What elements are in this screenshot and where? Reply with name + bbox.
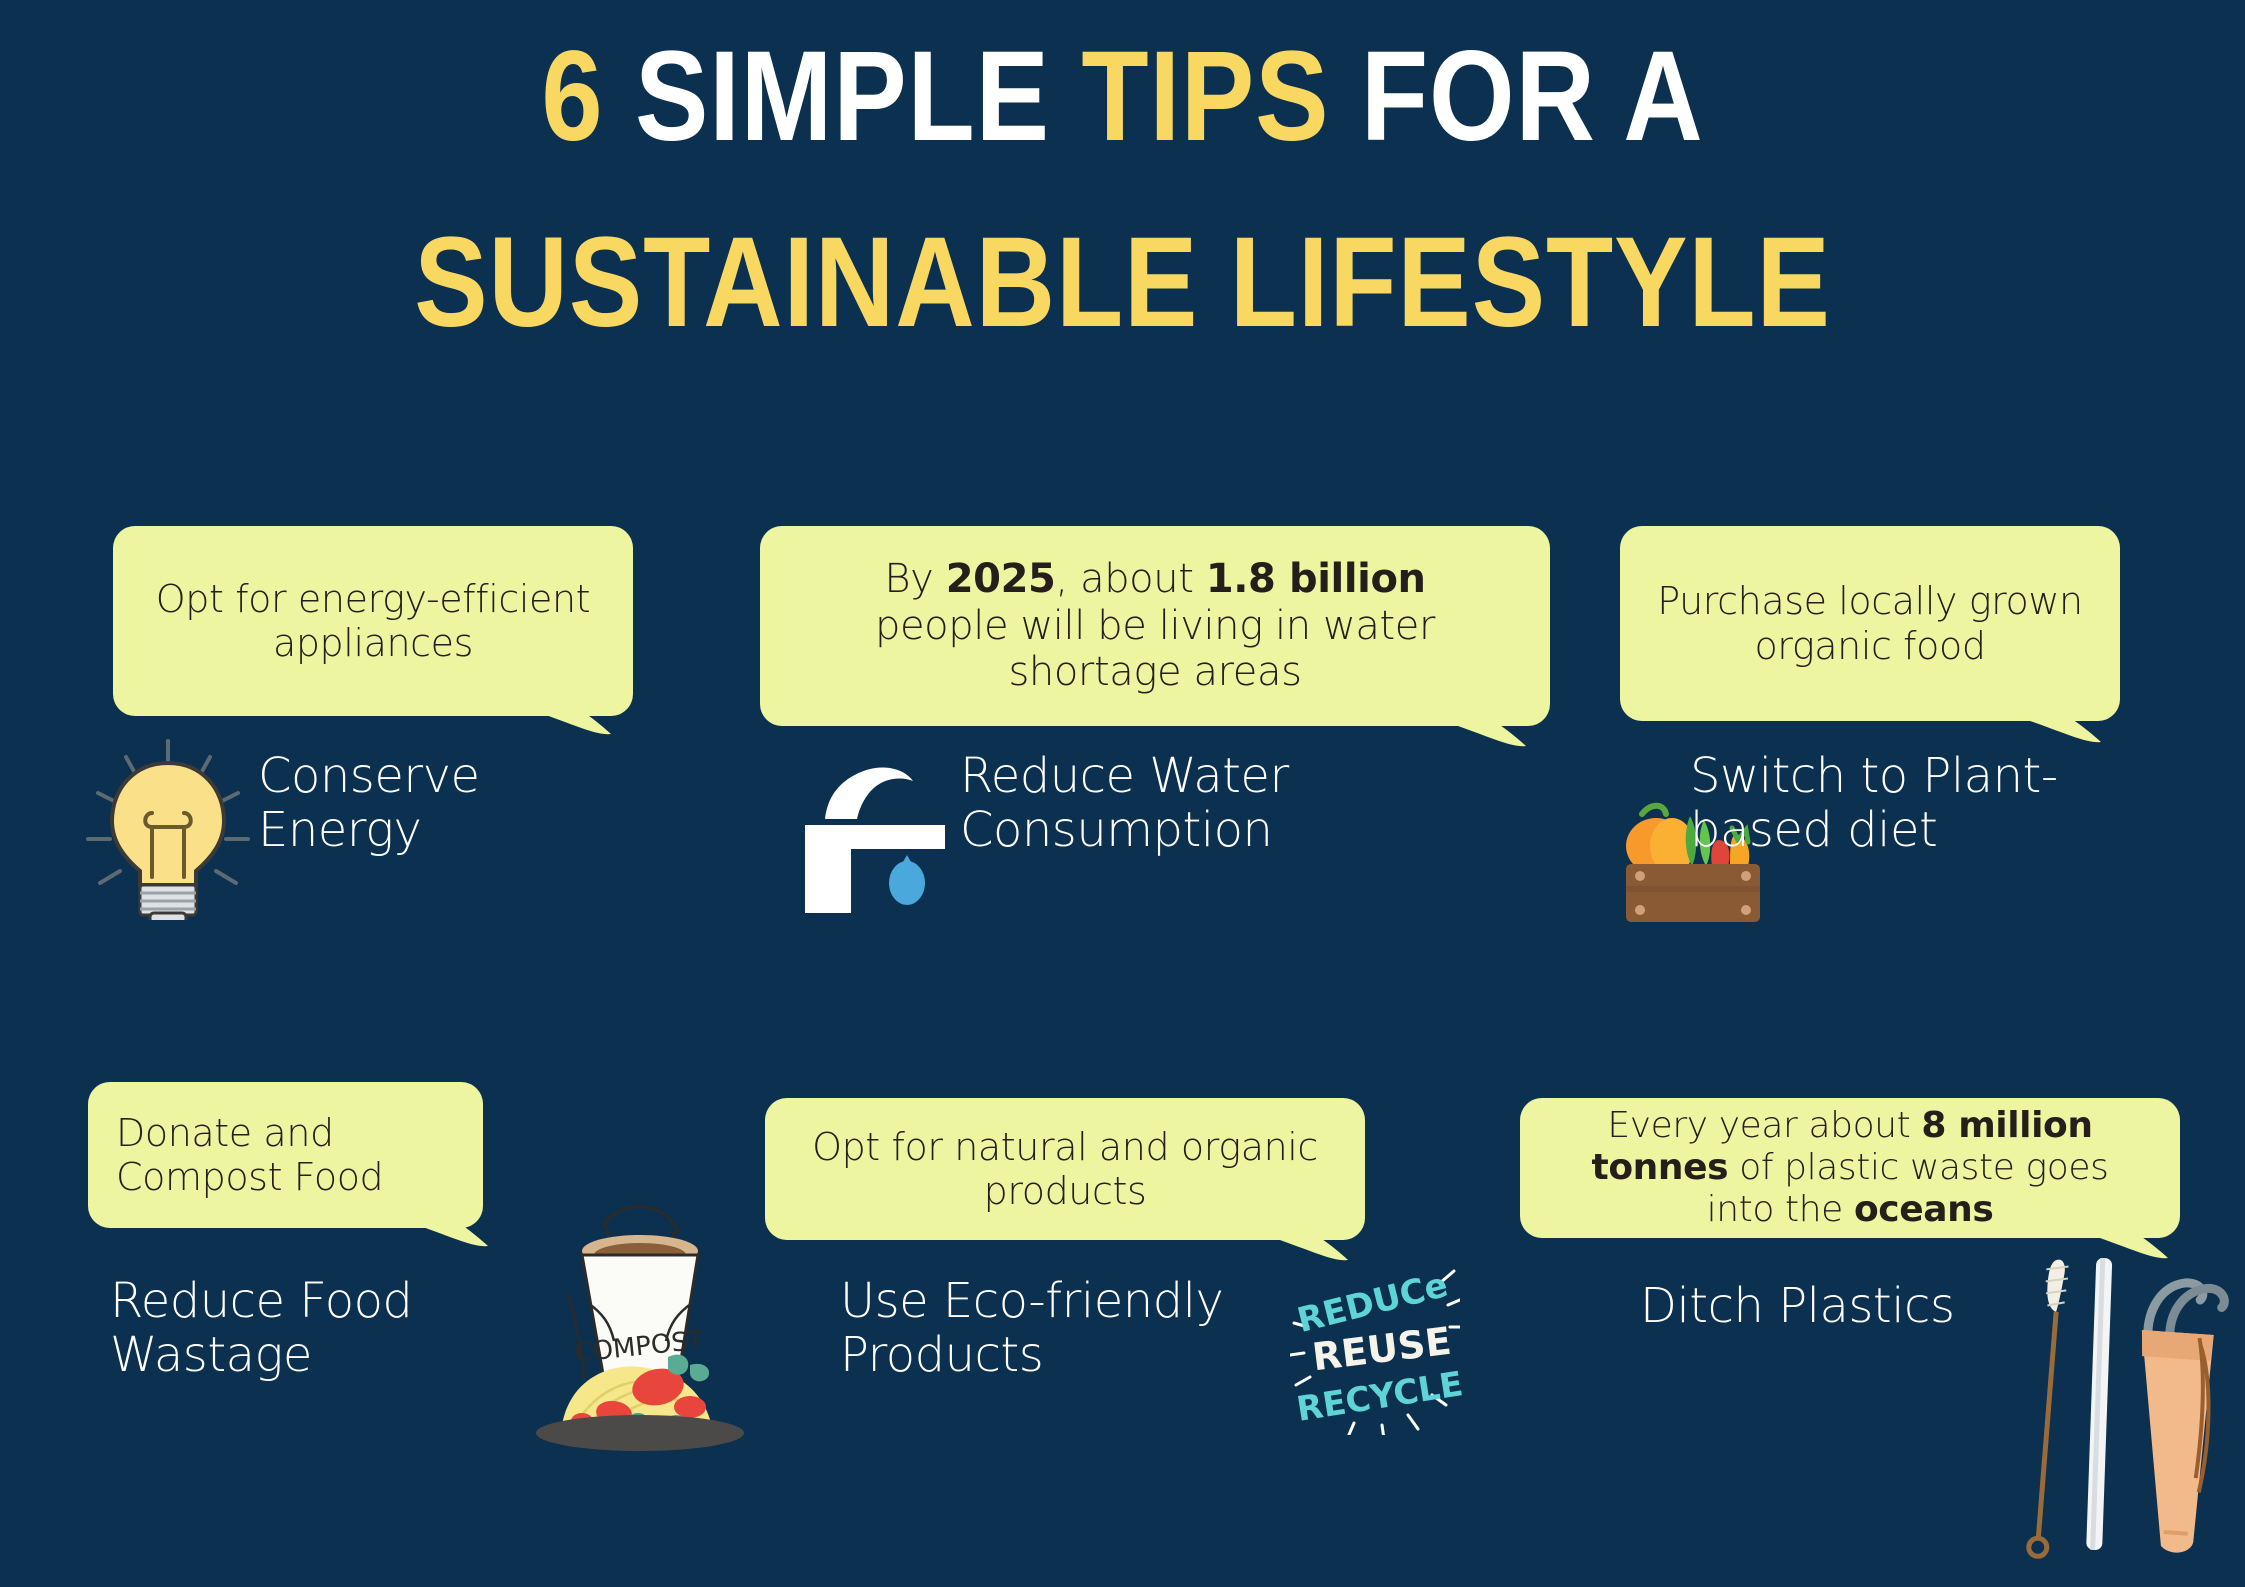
page-title: 6 SIMPLE TIPS FOR A SUSTAINABLE LIFESTYL… [0, 28, 2245, 352]
headline-reduce-food-wastage: Reduce Food Wastage [110, 1275, 510, 1383]
title-line-1: 6 SIMPLE TIPS FOR A [157, 28, 2088, 166]
compost-bin-icon: COMPOST [490, 1175, 780, 1465]
lightbulb-icon [78, 735, 258, 920]
bubble-plant-based-diet: Purchase locally grown organic food [1620, 526, 2120, 721]
bubble-text: Opt for natural and organic products [791, 1125, 1339, 1214]
bubble-text: By 2025, about 1.8 billionpeople will be… [875, 556, 1435, 696]
reduce-reuse-recycle-icon: REDUCe REUSE RECYCLE [1290, 1265, 1460, 1435]
headline-eco-friendly-products: Use Eco-friendly Products [840, 1275, 1310, 1383]
title-number: 6 [541, 25, 635, 168]
bubble-text: Donate and Compost Food [116, 1111, 457, 1200]
bubble-tail [1470, 712, 1600, 786]
headline-plant-based-diet: Switch to Plant- based diet [1690, 750, 2130, 858]
bubble-text: Every year about 8 milliontonnes of plas… [1592, 1105, 2109, 1231]
title-word-simple: SIMPLE [635, 25, 1081, 168]
bubble-text: Opt for energy-efficient appliances [139, 577, 607, 666]
title-word-tips: TIPS [1081, 25, 1361, 168]
title-word-for-a: FOR A [1361, 25, 1704, 168]
headline-ditch-plastics: Ditch Plastics [1640, 1280, 2040, 1334]
faucet-icon [785, 755, 945, 915]
bubble-reduce-water: By 2025, about 1.8 billionpeople will be… [760, 526, 1550, 726]
infographic-canvas: 6 SIMPLE TIPS FOR A SUSTAINABLE LIFESTYL… [0, 0, 2245, 1587]
headline-reduce-water: Reduce Water Consumption [960, 750, 1390, 858]
title-line-2: SUSTAINABLE LIFESTYLE [157, 214, 2088, 352]
bubble-text: Purchase locally grown organic food [1646, 579, 2094, 668]
headline-conserve-energy: Conserve Energy [258, 750, 578, 858]
